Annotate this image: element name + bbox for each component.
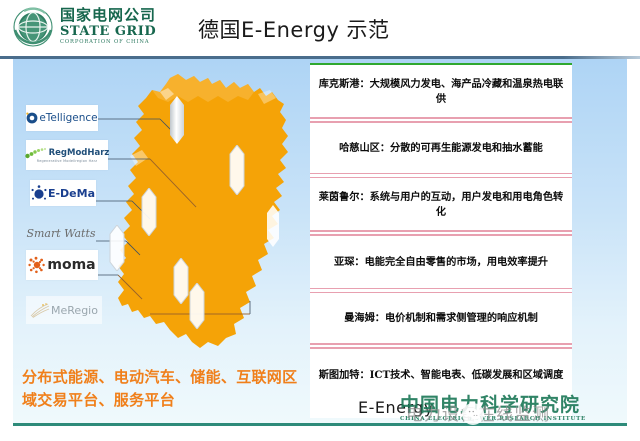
panel-row-mannheim[interactable]: 曼海姆：电价机制和需求侧管理的响应机制 bbox=[310, 293, 572, 343]
pin-stuttgart bbox=[188, 283, 206, 333]
logo-card-label: Smart Watts bbox=[26, 227, 95, 240]
left-margin-strip bbox=[0, 59, 13, 441]
page-title: 德国E-Energy 示范 bbox=[198, 14, 390, 44]
watermark-badge-icon bbox=[462, 403, 484, 425]
logo-card-edema[interactable]: E-DeMa bbox=[30, 180, 96, 206]
edema-icon bbox=[31, 185, 47, 201]
panel-row-stuttgart[interactable]: 斯图加特：ICT技术、智能电表、低碳发展和区域调度 bbox=[310, 349, 572, 401]
meregio-icon bbox=[30, 302, 50, 318]
logo-card-smartwatts[interactable]: Smart Watts bbox=[22, 222, 100, 244]
etelligence-icon bbox=[26, 112, 38, 124]
state-grid-globe-icon bbox=[12, 6, 54, 48]
pin-leipzig bbox=[265, 205, 281, 251]
slide-header: 国家电网公司 STATE GRID CORPORATION OF CHINA 德… bbox=[0, 0, 640, 58]
pin-cuxhaven bbox=[168, 96, 186, 148]
regmodharz-icon bbox=[25, 147, 47, 159]
logo-card-regmodharz[interactable]: RegModHarz Regenerative Modellregion Har… bbox=[26, 140, 108, 170]
footer-band bbox=[0, 426, 640, 441]
slide-canvas: 国家电网公司 STATE GRID CORPORATION OF CHINA 德… bbox=[0, 0, 640, 441]
logo-card-moma[interactable]: moma bbox=[26, 250, 98, 280]
pin-rhein-ruhr bbox=[140, 188, 158, 240]
regmodharz-subtitle: Regenerative Modellregion Harz bbox=[37, 159, 97, 163]
logo-card-label: eTelligence bbox=[39, 112, 97, 124]
panel-row-harz[interactable]: 哈慈山区：分散的可再生能源发电和抽水蓄能 bbox=[310, 123, 572, 173]
header-divider-rule bbox=[0, 56, 640, 59]
logo-subtitle: CORPORATION OF CHINA bbox=[60, 40, 156, 45]
logo-card-label: moma bbox=[47, 257, 95, 273]
panel-row-aachen[interactable]: 亚琛：电能完全自由零售的市场，用电效率提升 bbox=[310, 236, 572, 288]
pin-harz bbox=[228, 145, 246, 199]
panel-row-rhein-ruhr[interactable]: 莱茵鲁尔：系统与用户的互动，用户发电和用电角色转化 bbox=[310, 178, 572, 230]
logo-card-label: E-DeMa bbox=[48, 187, 95, 200]
pin-aachen bbox=[108, 225, 126, 275]
panel-row-cuxhaven[interactable]: 库克斯港：大规模风力发电、海产品冷藏和温泉热电联供 bbox=[310, 65, 572, 117]
city-projects-panel: 库克斯港：大规模风力发电、海产品冷藏和温泉热电联供 哈慈山区：分散的可再生能源发… bbox=[310, 63, 572, 418]
moma-icon bbox=[28, 256, 46, 274]
logo-card-label: MeRegio bbox=[51, 304, 98, 317]
orange-summary-note: 分布式能源、电动汽车、储能、互联网区域交易平台、服务平台 bbox=[22, 366, 312, 411]
logo-card-meregio[interactable]: MeRegio bbox=[26, 296, 102, 324]
right-margin-strip bbox=[627, 59, 640, 441]
state-grid-logo-text: 国家电网公司 STATE GRID CORPORATION OF CHINA bbox=[60, 8, 156, 45]
logo-card-label: RegModHarz bbox=[49, 148, 110, 158]
logo-english-name: STATE GRID bbox=[60, 25, 156, 38]
logo-chinese-name: 国家电网公司 bbox=[60, 8, 156, 23]
state-grid-logo: 国家电网公司 STATE GRID CORPORATION OF CHINA bbox=[12, 6, 156, 48]
logo-card-etelligence[interactable]: eTelligence bbox=[26, 105, 98, 131]
